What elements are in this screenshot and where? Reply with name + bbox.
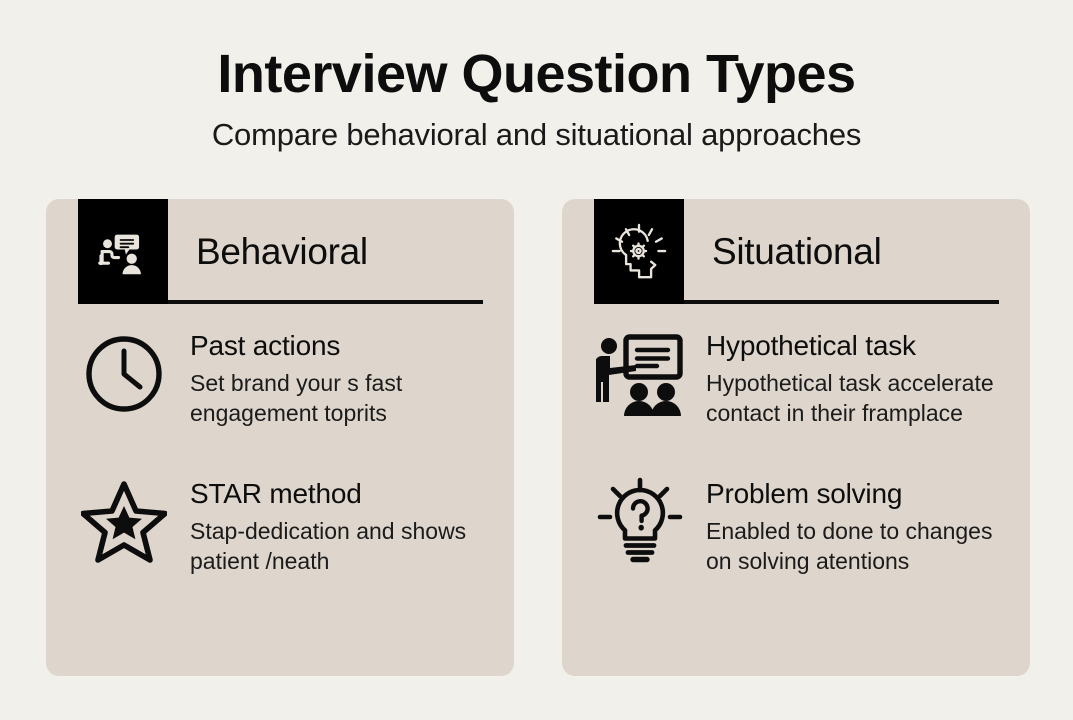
items-situational: Hypothetical task Hypothetical task acce… xyxy=(562,304,1030,576)
list-item-description: Set brand your s fast engagement toprits xyxy=(190,368,488,428)
list-item-title: STAR method xyxy=(190,478,488,509)
head-gear-idea-icon xyxy=(594,199,684,304)
list-item-description: Hypothetical task accelerate contact in … xyxy=(706,368,1004,428)
presentation-audience-icon xyxy=(594,328,686,420)
page-title: Interview Question Types xyxy=(0,46,1073,103)
list-item-title: Past actions xyxy=(190,330,488,361)
list-item-title: Problem solving xyxy=(706,478,1004,509)
page-header: Interview Question Types Compare behavio… xyxy=(0,46,1073,153)
items-behavioral: Past actions Set brand your s fast engag… xyxy=(46,304,514,576)
page-subtitle: Compare behavioral and situational appro… xyxy=(0,117,1073,153)
list-item: STAR method Stap-dedication and shows pa… xyxy=(78,476,488,577)
list-item-title: Hypothetical task xyxy=(706,330,1004,361)
card-header-situational: Situational xyxy=(562,199,1030,304)
list-item-text: Past actions Set brand your s fast engag… xyxy=(190,328,488,429)
card-behavioral: Behavioral Past actions Set brand your s… xyxy=(46,199,514,676)
list-item-description: Enabled to done to changes on solving at… xyxy=(706,516,1004,576)
card-title-behavioral: Behavioral xyxy=(196,199,368,304)
card-title-situational: Situational xyxy=(712,199,882,304)
list-item-description: Stap-dedication and shows patient /neath xyxy=(190,516,488,576)
infographic-page: Interview Question Types Compare behavio… xyxy=(0,0,1073,720)
lightbulb-question-icon xyxy=(594,476,686,568)
clock-icon xyxy=(78,328,170,420)
list-item: Problem solving Enabled to done to chang… xyxy=(594,476,1004,577)
cards-container: Behavioral Past actions Set brand your s… xyxy=(46,199,1030,676)
card-situational: Situational xyxy=(562,199,1030,676)
list-item: Hypothetical task Hypothetical task acce… xyxy=(594,328,1004,429)
list-item: Past actions Set brand your s fast engag… xyxy=(78,328,488,429)
list-item-text: Hypothetical task Hypothetical task acce… xyxy=(706,328,1004,429)
star-icon xyxy=(78,476,170,568)
list-item-text: STAR method Stap-dedication and shows pa… xyxy=(190,476,488,577)
card-header-behavioral: Behavioral xyxy=(46,199,514,304)
list-item-text: Problem solving Enabled to done to chang… xyxy=(706,476,1004,577)
interview-conversation-icon xyxy=(78,199,168,304)
